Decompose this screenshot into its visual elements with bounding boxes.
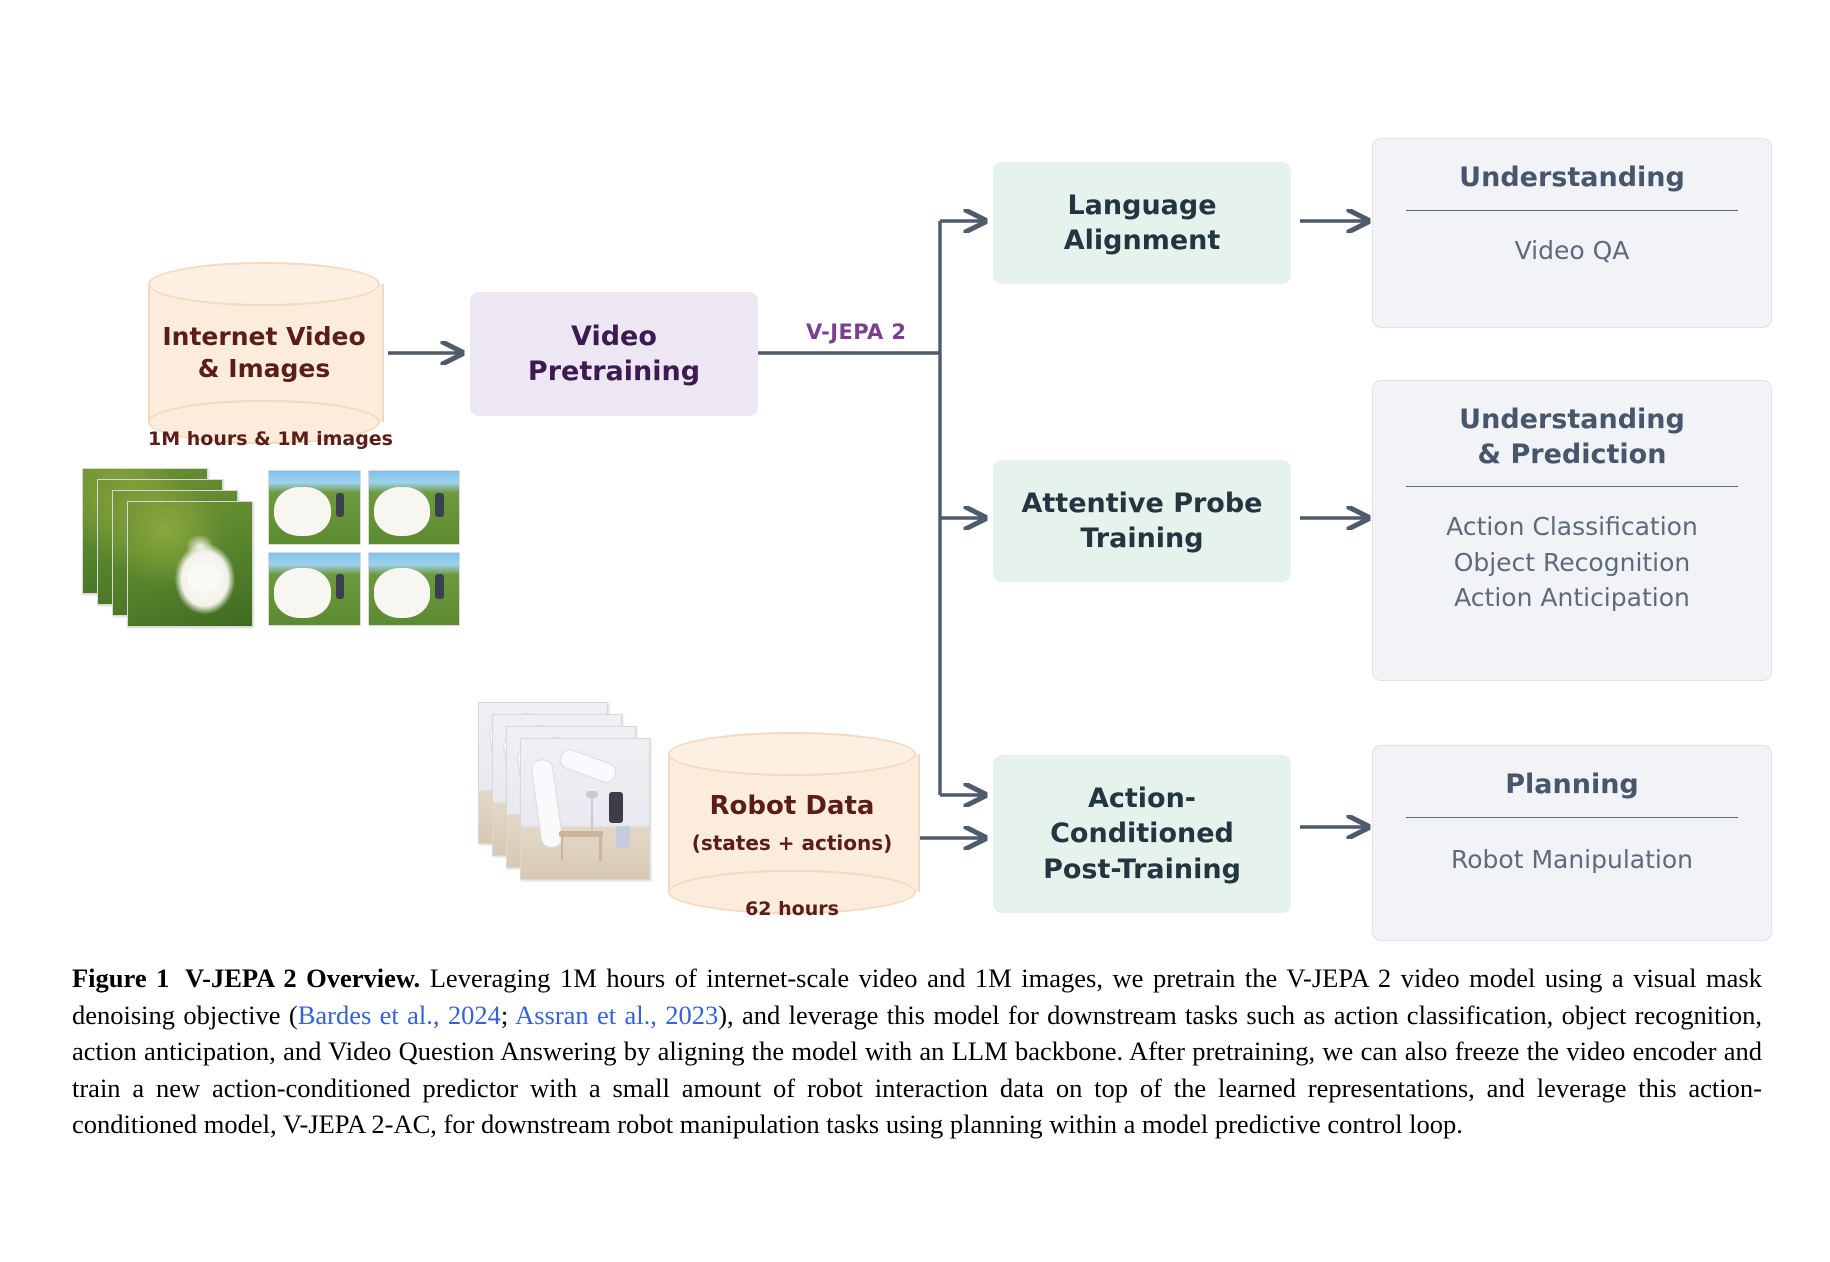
outcome-item: Action Classification — [1446, 509, 1698, 545]
process-video-pretraining[interactable]: Video Pretraining — [470, 292, 758, 416]
datastore-label: Internet Video & Images — [148, 262, 380, 444]
stage-label: Attentive Probe Training — [1021, 486, 1262, 556]
caption-title: V-JEPA 2 Overview. — [185, 963, 420, 993]
outcome-title: Understanding & Prediction — [1459, 403, 1685, 472]
stage-label: Language Alignment — [1064, 188, 1221, 258]
thumbnail — [268, 552, 361, 627]
outcome-title: Planning — [1505, 768, 1639, 803]
stage-action-conditioned-post-training[interactable]: Action- Conditioned Post-Training — [993, 755, 1291, 913]
outcome-understanding[interactable]: Understanding Video QA — [1372, 138, 1772, 328]
outcome-title-line1: Planning — [1505, 768, 1639, 803]
citation-link-assran[interactable]: Assran et al., 2023 — [515, 1000, 718, 1030]
thumbnail — [368, 470, 461, 545]
outcome-items: Action Classification Object Recognition… — [1446, 509, 1698, 616]
outcome-understanding-prediction[interactable]: Understanding & Prediction Action Classi… — [1372, 380, 1772, 681]
datastore-robot-data: Robot Data (states + actions) — [668, 732, 916, 914]
datastore-internet-video: Internet Video & Images — [148, 262, 380, 444]
stage-label-line1: Attentive Probe — [1021, 486, 1262, 521]
outcome-items: Video QA — [1515, 233, 1630, 269]
figure-caption: Figure 1 V-JEPA 2 Overview. Leveraging 1… — [72, 960, 1762, 1143]
outcome-items: Robot Manipulation — [1451, 842, 1693, 878]
stage-label-line1: Language — [1064, 188, 1221, 223]
edge-label-vjepa2: V-JEPA 2 — [806, 320, 906, 344]
image-stack-video-frames — [82, 468, 252, 633]
stage-language-alignment[interactable]: Language Alignment — [993, 162, 1291, 284]
outcome-item: Object Recognition — [1446, 545, 1698, 581]
stage-label-line3: Post-Training — [1043, 852, 1241, 887]
caption-figure-label: Figure 1 — [72, 963, 169, 993]
stage-label-line2: Training — [1021, 521, 1262, 556]
citation-link-bardes[interactable]: Bardes et al., 2024 — [298, 1000, 501, 1030]
outcome-title-line2: & Prediction — [1459, 438, 1685, 473]
image-thumbnail-grid — [268, 470, 460, 626]
datastore-label: Robot Data (states + actions) — [668, 732, 916, 914]
datastore-label-line1: Internet Video — [162, 321, 365, 353]
outcome-divider — [1406, 486, 1738, 487]
process-label: Video Pretraining — [528, 319, 700, 389]
stage-label-line1: Action- — [1043, 781, 1241, 816]
stage-label-line2: Alignment — [1064, 223, 1221, 258]
outcome-planning[interactable]: Planning Robot Manipulation — [1372, 745, 1772, 941]
outcome-item: Action Anticipation — [1446, 580, 1698, 616]
stage-label: Action- Conditioned Post-Training — [1043, 781, 1241, 886]
datastore-label-line1: Robot Data — [710, 790, 875, 823]
figure-diagram: Internet Video & Images 1M hours & 1M im… — [0, 0, 1830, 950]
datastore-label-line2: (states + actions) — [692, 831, 893, 857]
outcome-title-line1: Understanding — [1459, 403, 1685, 438]
caption-separator: ; — [501, 1000, 515, 1030]
datastore-label-line2: & Images — [198, 353, 330, 385]
image-stack-robot-frames — [478, 702, 658, 890]
outcome-title-line1: Understanding — [1459, 161, 1685, 196]
stage-label-line2: Conditioned — [1043, 816, 1241, 851]
process-label-line1: Video — [528, 319, 700, 354]
outcome-item: Robot Manipulation — [1451, 842, 1693, 878]
process-label-line2: Pretraining — [528, 354, 700, 389]
thumbnail — [268, 470, 361, 545]
outcome-title: Understanding — [1459, 161, 1685, 196]
outcome-divider — [1406, 817, 1738, 818]
outcome-divider — [1406, 210, 1738, 211]
video-frame — [127, 501, 253, 627]
stage-attentive-probe-training[interactable]: Attentive Probe Training — [993, 460, 1291, 582]
thumbnail — [368, 552, 461, 627]
outcome-item: Video QA — [1515, 233, 1630, 269]
robot-frame — [520, 738, 650, 880]
